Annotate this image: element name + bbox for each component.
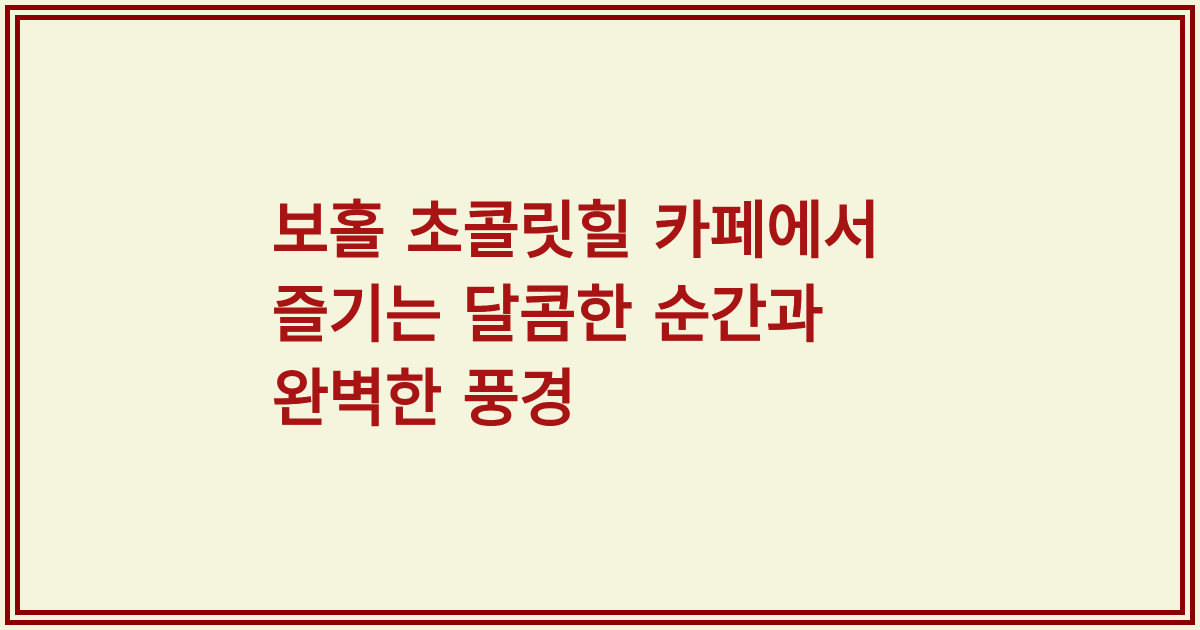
thumbnail-card: 보홀 초콜릿힐 카페에서 즐기는 달콤한 순간과 완벽한 풍경 (0, 0, 1200, 630)
page-title: 보홀 초콜릿힐 카페에서 즐기는 달콤한 순간과 완벽한 풍경 (272, 189, 950, 442)
headline-container: 보홀 초콜릿힐 카페에서 즐기는 달콤한 순간과 완벽한 풍경 (0, 0, 1200, 630)
